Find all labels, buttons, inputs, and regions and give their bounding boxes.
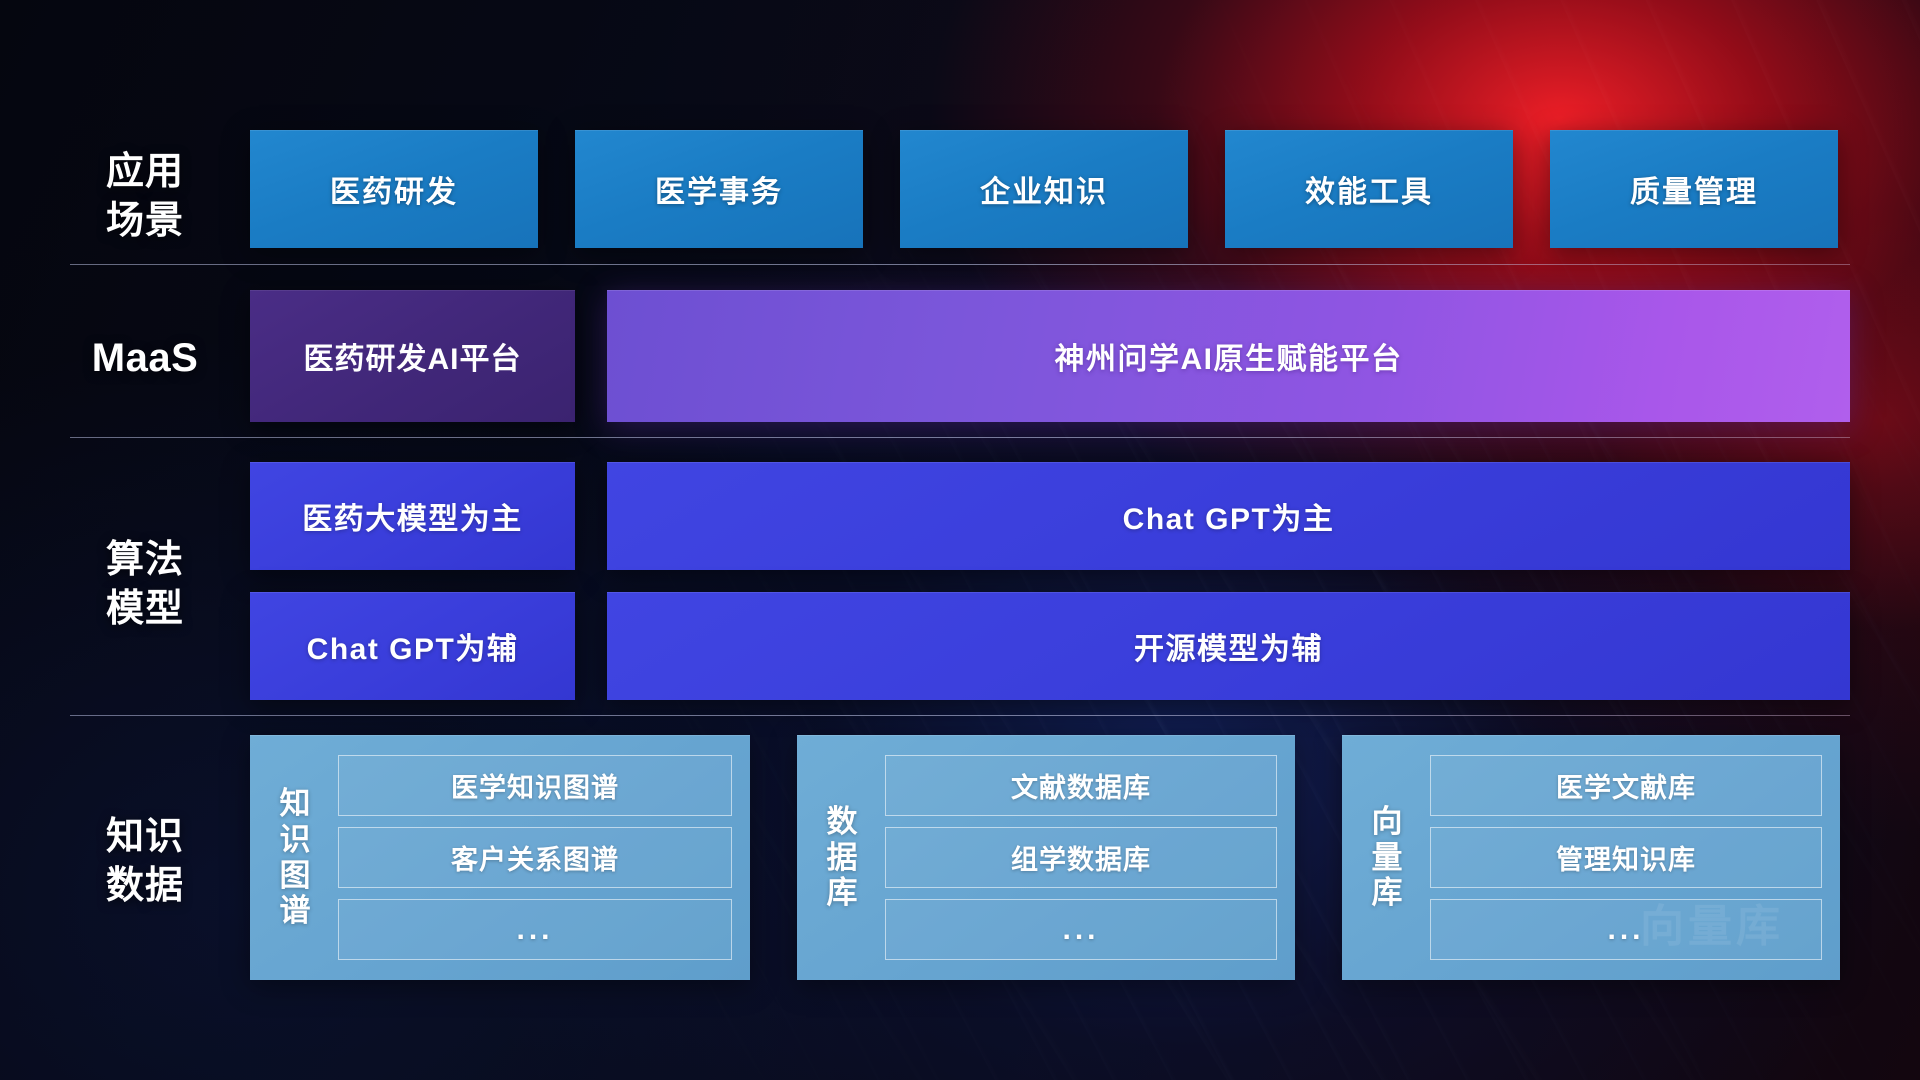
row-algorithm-models: 算法 模型 医药大模型为主 Chat GPT为主 Chat GPT为辅 开源模型… <box>0 462 1920 702</box>
knowledge-group-label-knowledge-graph: 知识图谱 <box>266 786 324 930</box>
row-maas: MaaS 医药研发AI平台 神州问学AI原生赋能平台 <box>0 290 1920 422</box>
knowledge-group-vector-store: 向量库 医学文献库 管理知识库 ... <box>1342 735 1840 980</box>
row-label-line-1: 应用 <box>70 148 220 197</box>
algo-card-opensource-secondary[interactable]: 开源模型为辅 <box>607 592 1850 700</box>
row-label-line-2: 场景 <box>70 197 220 246</box>
row-label-application-scenarios: 应用 场景 <box>70 148 220 245</box>
row-label-algorithm-models: 算法 模型 <box>70 536 220 633</box>
knowledge-item-list-knowledge-graph: 医学知识图谱 客户关系图谱 ... <box>338 751 732 964</box>
row-label-line-1: 算法 <box>70 536 220 585</box>
app-card-efficiency-tools[interactable]: 效能工具 <box>1225 130 1513 248</box>
knowledge-item-literature-database[interactable]: 文献数据库 <box>885 755 1277 816</box>
row-label-maas: MaaS <box>70 333 220 384</box>
row-label-line-1: 知识 <box>70 813 220 862</box>
knowledge-group-track: 知识图谱 医学知识图谱 客户关系图谱 ... 数据库 文献数据库 组学数据库 .… <box>250 735 1840 980</box>
algorithm-model-row-primary: 医药大模型为主 Chat GPT为主 <box>250 462 1850 570</box>
knowledge-group-database: 数据库 文献数据库 组学数据库 ... <box>797 735 1295 980</box>
algo-card-chatgpt-secondary[interactable]: Chat GPT为辅 <box>250 592 575 700</box>
algo-card-chatgpt-primary[interactable]: Chat GPT为主 <box>607 462 1850 570</box>
architecture-diagram-canvas: 应用 场景 医药研发 医学事务 企业知识 效能工具 质量管理 MaaS 医药研发… <box>0 0 1920 1080</box>
maas-card-pharma-ai-platform[interactable]: 医药研发AI平台 <box>250 290 575 422</box>
knowledge-item-more-database[interactable]: ... <box>885 899 1277 960</box>
app-card-pharma-rd[interactable]: 医药研发 <box>250 130 538 248</box>
row-knowledge-data: 知识 数据 知识图谱 医学知识图谱 客户关系图谱 ... 数据库 文献数据库 组… <box>0 735 1920 980</box>
knowledge-item-list-database: 文献数据库 组学数据库 ... <box>885 751 1277 964</box>
divider-algo-know <box>70 715 1850 716</box>
knowledge-item-medical-knowledge-graph[interactable]: 医学知识图谱 <box>338 755 732 816</box>
divider-apps-maas <box>70 264 1850 265</box>
knowledge-item-medical-literature-store[interactable]: 医学文献库 <box>1430 755 1822 816</box>
row-label-knowledge-data: 知识 数据 <box>70 813 220 910</box>
algorithm-model-grid: 医药大模型为主 Chat GPT为主 Chat GPT为辅 开源模型为辅 <box>250 462 1850 700</box>
knowledge-item-more-vector-store[interactable]: ... <box>1430 899 1822 960</box>
knowledge-group-label-database: 数据库 <box>813 804 871 912</box>
row-label-line-2: 数据 <box>70 862 220 911</box>
knowledge-item-more-knowledge-graph[interactable]: ... <box>338 899 732 960</box>
knowledge-group-knowledge-graph: 知识图谱 医学知识图谱 客户关系图谱 ... <box>250 735 750 980</box>
app-card-enterprise-knowledge[interactable]: 企业知识 <box>900 130 1188 248</box>
app-card-medical-affairs[interactable]: 医学事务 <box>575 130 863 248</box>
row-label-line-2: 模型 <box>70 585 220 634</box>
algorithm-model-row-secondary: Chat GPT为辅 开源模型为辅 <box>250 592 1850 700</box>
knowledge-group-label-vector-store: 向量库 <box>1358 804 1416 912</box>
maas-banner-shenzhou-wenxue[interactable]: 神州问学AI原生赋能平台 <box>607 290 1850 422</box>
knowledge-item-omics-database[interactable]: 组学数据库 <box>885 827 1277 888</box>
maas-card-track: 医药研发AI平台 神州问学AI原生赋能平台 <box>250 290 1850 422</box>
knowledge-item-list-vector-store: 医学文献库 管理知识库 ... <box>1430 751 1822 964</box>
row-application-scenarios: 应用 场景 医药研发 医学事务 企业知识 效能工具 质量管理 <box>0 130 1920 250</box>
app-card-quality-management[interactable]: 质量管理 <box>1550 130 1838 248</box>
knowledge-item-management-knowledge-store[interactable]: 管理知识库 <box>1430 827 1822 888</box>
algo-card-pharma-llm-primary[interactable]: 医药大模型为主 <box>250 462 575 570</box>
divider-maas-algo <box>70 437 1850 438</box>
application-scenario-card-track: 医药研发 医学事务 企业知识 效能工具 质量管理 <box>250 130 1838 248</box>
knowledge-item-customer-relation-graph[interactable]: 客户关系图谱 <box>338 827 732 888</box>
